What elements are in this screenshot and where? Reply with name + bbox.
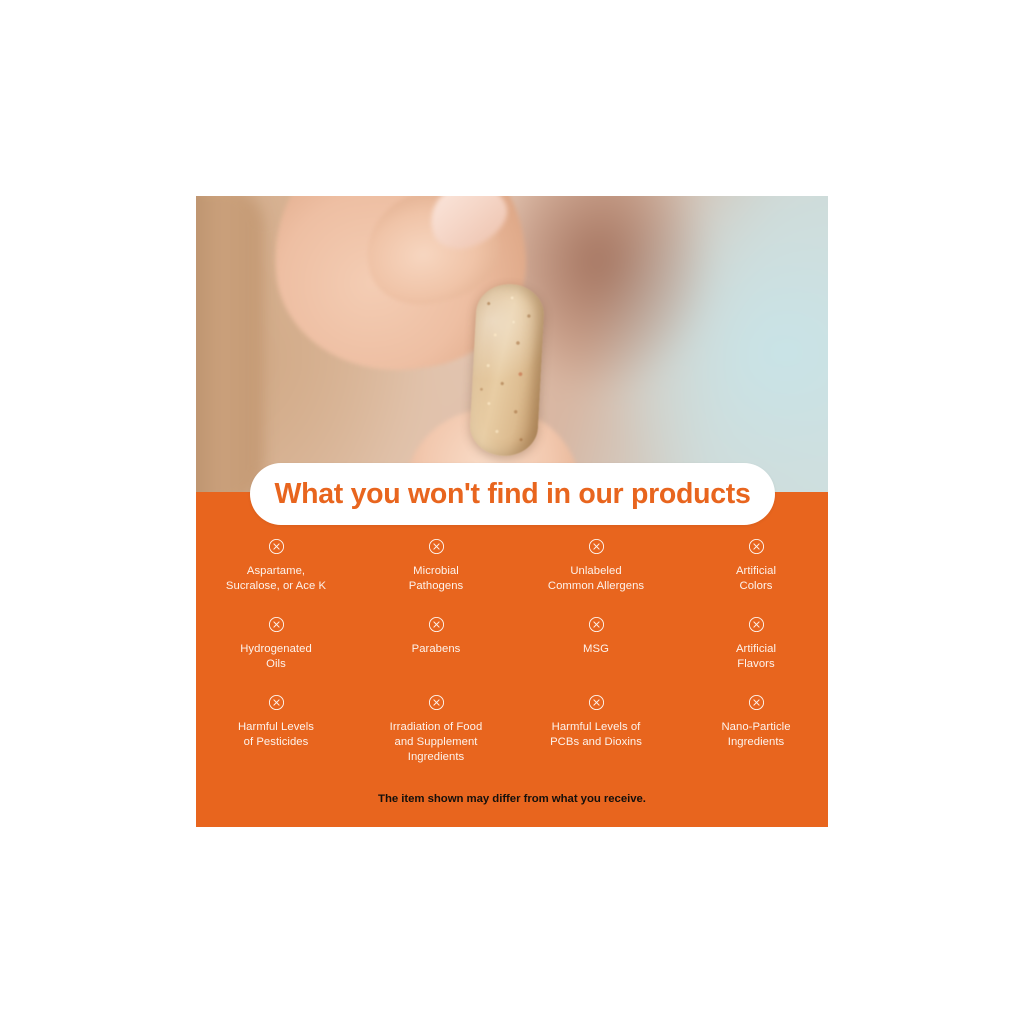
headline-lead: What you (275, 478, 408, 510)
exclusion-label: Harmful Levels of Pesticides (238, 720, 314, 750)
photo-tablet (469, 282, 546, 457)
circle-x-icon (748, 694, 765, 711)
exclusion-label: Parabens (412, 642, 461, 657)
circle-x-icon (268, 694, 285, 711)
circle-x-icon (428, 694, 445, 711)
circle-x-icon (428, 616, 445, 633)
product-exclusions-card: What you won't find in our products Aspa… (196, 196, 828, 827)
exclusion-label: Unlabeled Common Allergens (548, 564, 644, 594)
exclusion-item: Unlabeled Common Allergens (516, 538, 676, 594)
exclusion-item: Harmful Levels of PCBs and Dioxins (516, 694, 676, 765)
circle-x-icon (588, 694, 605, 711)
exclusions-grid: Aspartame, Sucralose, or Ace K Microbial… (196, 538, 828, 765)
hand-holding-tablet-photo (196, 196, 828, 492)
circle-x-icon (588, 538, 605, 555)
headline-trail: find in our products (480, 478, 751, 510)
exclusion-label: Artificial Colors (736, 564, 776, 594)
circle-x-icon (748, 538, 765, 555)
exclusion-label: MSG (583, 642, 609, 657)
exclusion-item: Microbial Pathogens (356, 538, 516, 594)
headline-emphasis: won't (408, 478, 480, 510)
exclusions-row: Hydrogenated Oils Parabens (196, 616, 828, 672)
exclusion-label: Hydrogenated Oils (240, 642, 312, 672)
exclusions-row: Harmful Levels of Pesticides Irradiation… (196, 694, 828, 765)
page-root: What you won't find in our products Aspa… (0, 0, 1024, 1024)
page-title: What you won't find in our products (275, 478, 751, 511)
circle-x-icon (268, 538, 285, 555)
headline-banner: What you won't find in our products (250, 463, 775, 525)
exclusion-label: Microbial Pathogens (409, 564, 463, 594)
exclusion-item: Nano-Particle Ingredients (676, 694, 828, 765)
circle-x-icon (588, 616, 605, 633)
exclusion-item: Parabens (356, 616, 516, 672)
exclusion-item: Aspartame, Sucralose, or Ace K (196, 538, 356, 594)
exclusion-label: Harmful Levels of PCBs and Dioxins (550, 720, 642, 750)
disclaimer-text: The item shown may differ from what you … (196, 793, 828, 805)
exclusion-label: Nano-Particle Ingredients (721, 720, 790, 750)
exclusion-item: Artificial Flavors (676, 616, 828, 672)
circle-x-icon (268, 616, 285, 633)
exclusion-label: Irradiation of Food and Supplement Ingre… (390, 720, 483, 765)
circle-x-icon (428, 538, 445, 555)
row-spacer (196, 672, 828, 694)
exclusion-item: Irradiation of Food and Supplement Ingre… (356, 694, 516, 765)
exclusion-item: MSG (516, 616, 676, 672)
photo-arm (196, 196, 264, 492)
exclusion-item: Hydrogenated Oils (196, 616, 356, 672)
circle-x-icon (748, 616, 765, 633)
exclusions-row: Aspartame, Sucralose, or Ace K Microbial… (196, 538, 828, 594)
exclusion-label: Artificial Flavors (736, 642, 776, 672)
exclusion-label: Aspartame, Sucralose, or Ace K (226, 564, 326, 594)
row-spacer (196, 594, 828, 616)
exclusion-item: Artificial Colors (676, 538, 828, 594)
exclusion-item: Harmful Levels of Pesticides (196, 694, 356, 765)
